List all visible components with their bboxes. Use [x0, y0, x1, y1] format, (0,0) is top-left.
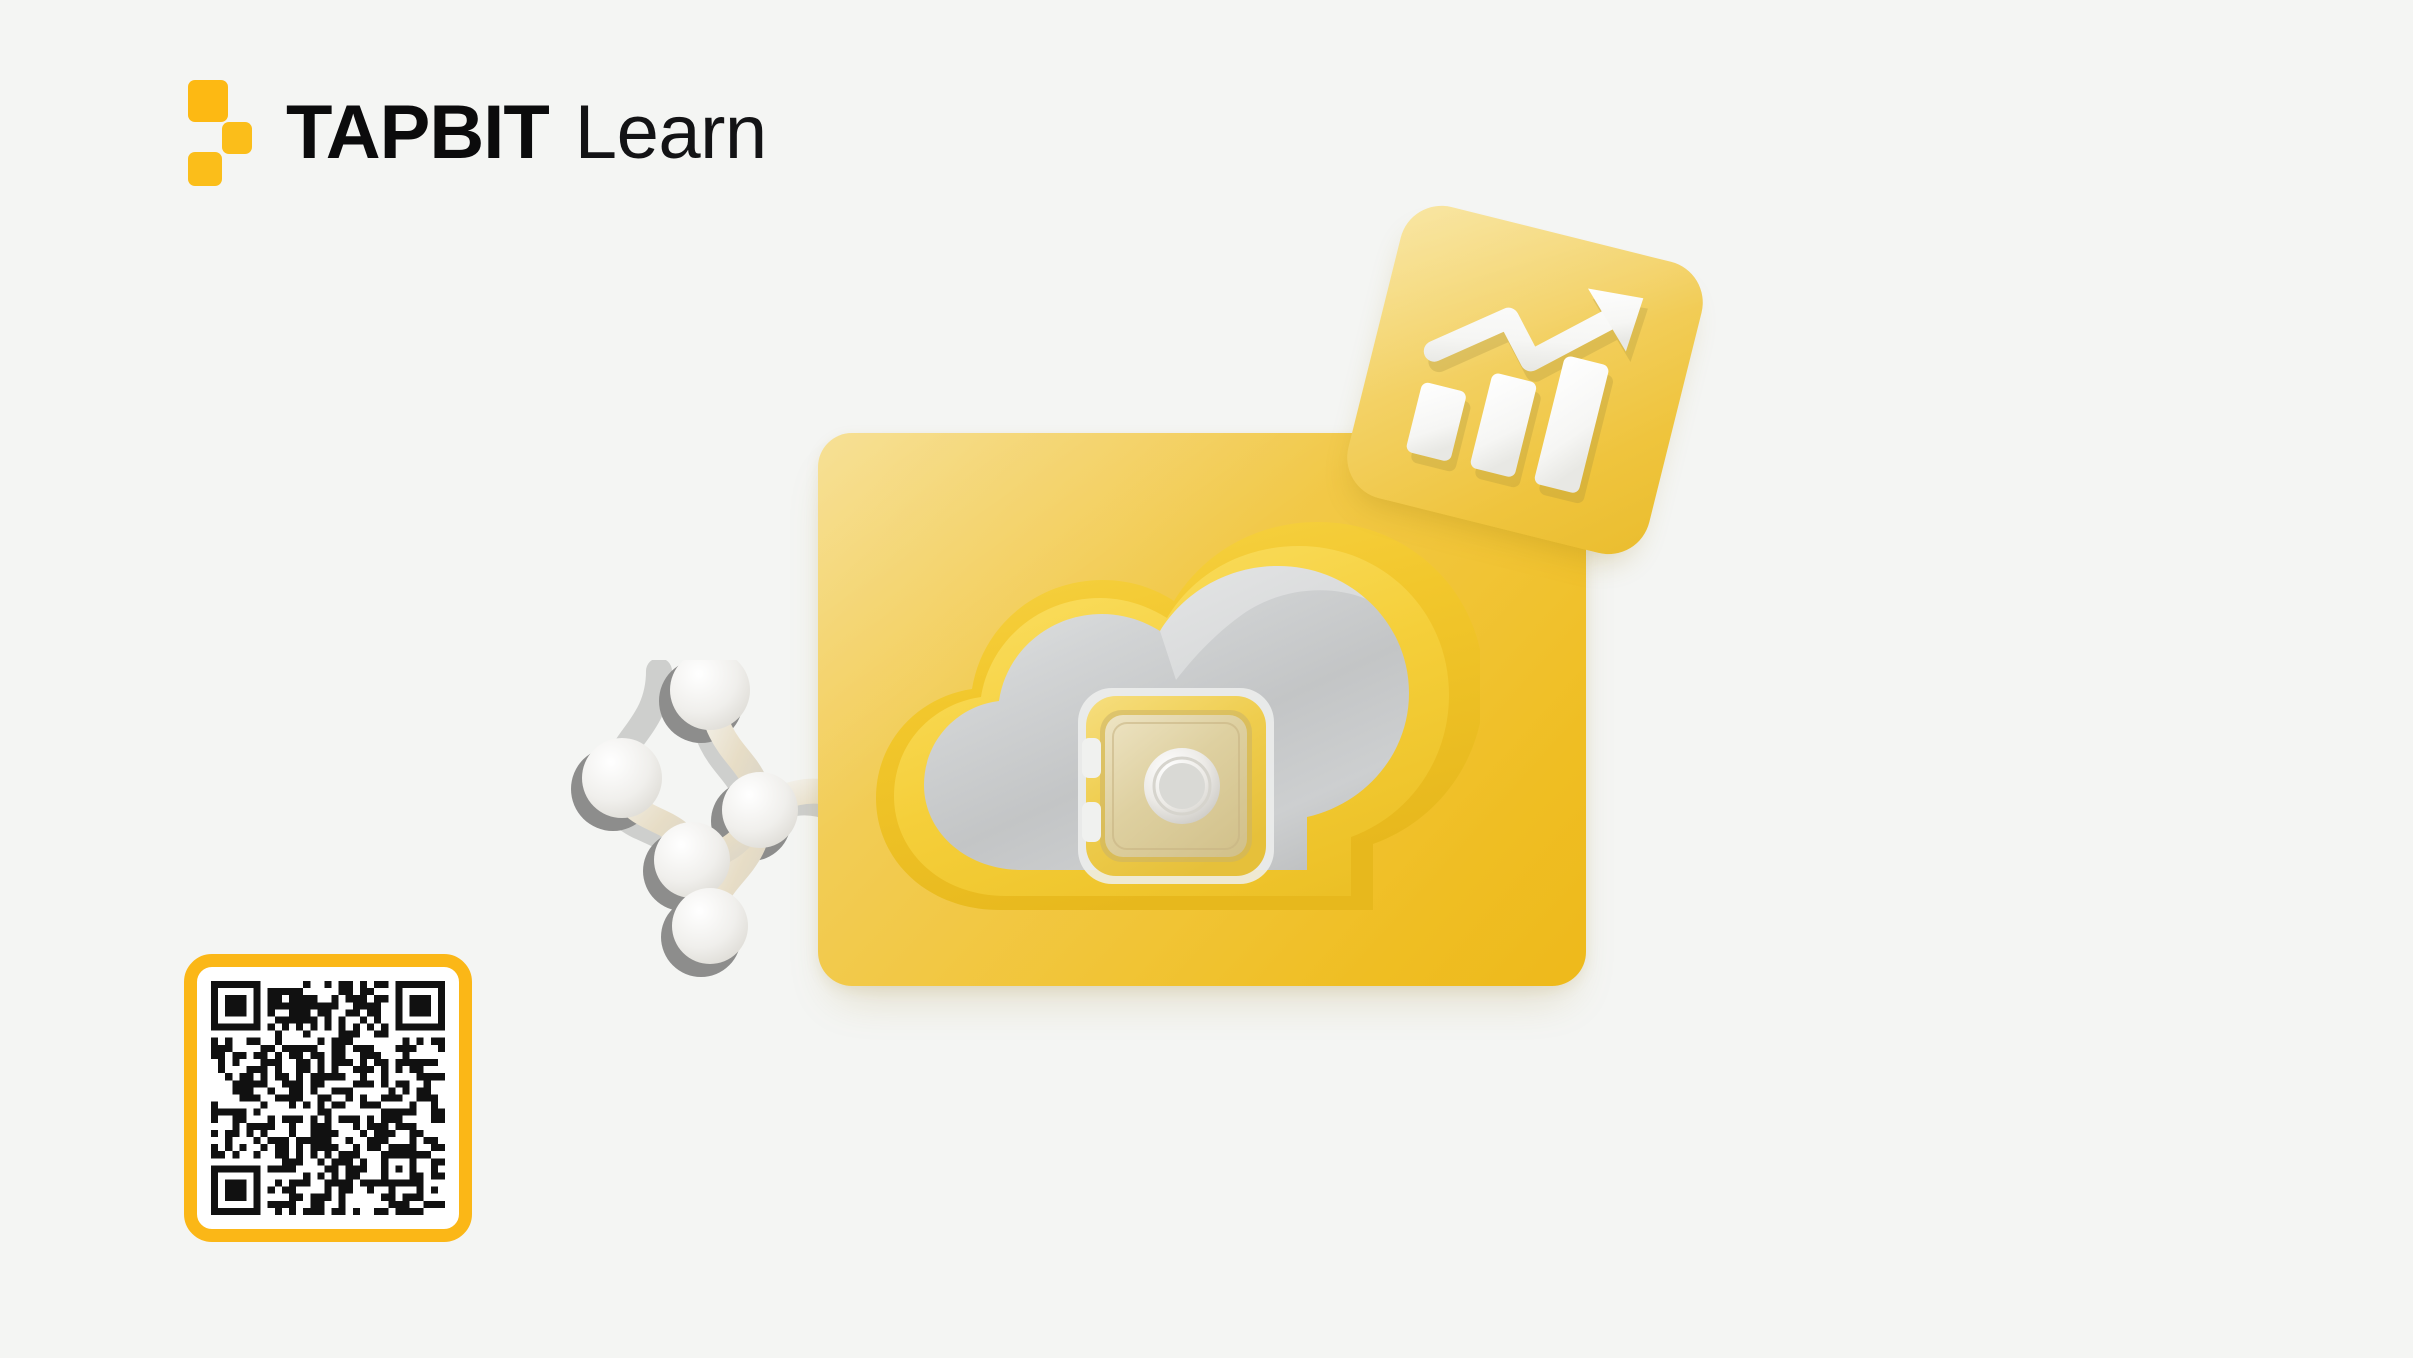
safe-vault-door: [1078, 688, 1274, 884]
safe-hinge-bottom: [1082, 802, 1101, 842]
network-nodes: [582, 660, 798, 964]
qr-code[interactable]: [184, 954, 472, 1242]
logo-square-bottom: [188, 152, 222, 186]
brand-lockup[interactable]: TAPBIT Learn: [182, 78, 767, 188]
page-canvas: TAPBIT Learn: [0, 0, 2413, 1358]
safe-hinge-top: [1082, 738, 1101, 778]
logo-square-top: [188, 80, 228, 122]
logo-square-middle: [222, 122, 252, 154]
safe-dial-inner: [1159, 763, 1205, 809]
wordmark: TAPBIT Learn: [286, 95, 767, 171]
cloud-vault-3d-illustration: [560, 230, 1850, 1160]
brand-name-light: Learn: [575, 95, 767, 171]
brand-name-bold: TAPBIT: [286, 95, 549, 171]
qr-code-canvas: [211, 981, 445, 1215]
metallic-cloud: [860, 510, 1480, 930]
tapbit-blocks-logo-icon: [182, 78, 254, 188]
